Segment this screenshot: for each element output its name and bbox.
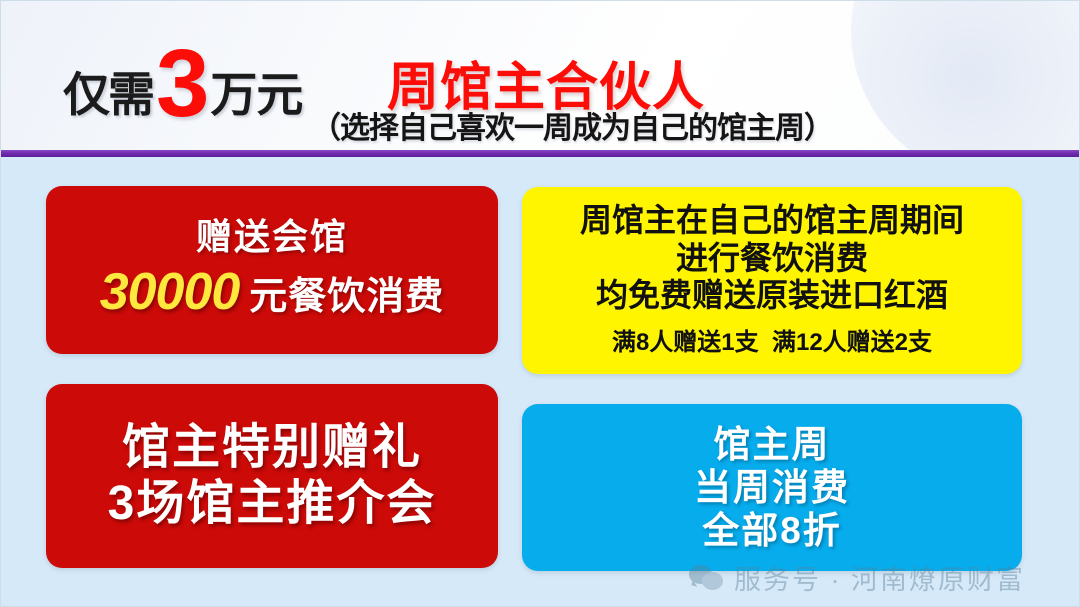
card-gift-dining-credit: 赠送会馆 30000 元餐饮消费 [46, 186, 498, 354]
slide-canvas: 仅需 3 万元 周馆主合伙人 （选择自己喜欢一周成为自己的馆主周） 赠送会馆 3… [0, 0, 1080, 607]
price-unit-label: 万元 [210, 56, 302, 125]
card-gift-amount-row: 30000 元餐饮消费 [100, 262, 445, 322]
price-number: 3 [156, 42, 209, 126]
card-wine-note: 满8人赠送1支 满12人赠送2支 [612, 322, 932, 357]
header-banner: 仅需 3 万元 周馆主合伙人 （选择自己喜欢一周成为自己的馆主周） [1, 1, 1080, 150]
page-subtitle: （选择自己喜欢一周成为自己的馆主周） [311, 103, 833, 147]
card-gift-amount-unit: 元餐饮消费 [249, 265, 444, 320]
card-special-gift: 馆主特别赠礼 3场馆主推介会 [46, 384, 498, 568]
card-wine-line-1: 周馆主在自己的馆主周期间 [580, 202, 964, 240]
header-divider [1, 150, 1080, 157]
header-glow-decoration [851, 1, 1080, 150]
card-week-discount: 馆主周 当周消费 全部8折 [522, 404, 1022, 571]
price-headline: 仅需 3 万元 [63, 37, 302, 125]
card-gift-amount: 30000 [100, 262, 240, 322]
card-wine-line-2: 进行餐饮消费 [676, 240, 868, 278]
price-prefix-label: 仅需 [63, 56, 153, 125]
card-discount-line-2: 当周消费 [694, 466, 850, 509]
card-special-line-1: 馆主特别赠礼 [122, 420, 422, 476]
card-gift-title: 赠送会馆 [196, 218, 348, 257]
card-special-line-2: 3场馆主推介会 [108, 476, 437, 532]
card-discount-line-1: 馆主周 [714, 423, 831, 466]
card-wine-line-3: 均免费赠送原装进口红酒 [596, 277, 948, 315]
card-discount-line-3: 全部8折 [702, 509, 842, 552]
card-free-wine: 周馆主在自己的馆主周期间 进行餐饮消费 均免费赠送原装进口红酒 满8人赠送1支 … [522, 187, 1022, 374]
